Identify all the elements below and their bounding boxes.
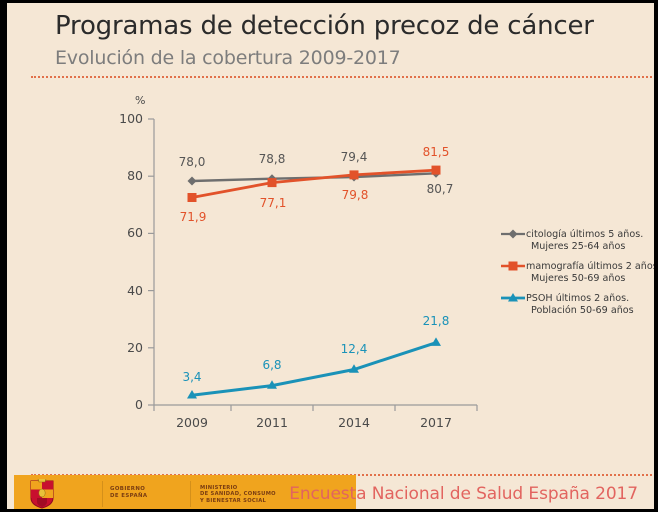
legend-label-citologia-line2: Mujeres 25-64 años <box>531 241 625 252</box>
logo-ministerio-text: MINISTERIO DE SANIDAD, CONSUMO Y BIENEST… <box>200 485 276 504</box>
logo-divider-1 <box>102 481 103 507</box>
logo-gobierno-text: GOBIERNO DE ESPAÑA <box>110 486 148 499</box>
data-label-psoh-2009: 3,4 <box>182 370 201 384</box>
y-tick-label-100: 100 <box>119 111 143 126</box>
x-tick-label-2009: 2009 <box>176 415 208 430</box>
data-label-mamografia-2017: 81,5 <box>423 145 450 159</box>
legend-item-psoh[interactable]: PSOH últimos 2 años. Población 50-69 año… <box>501 292 634 316</box>
footer-source-label: Encuesta Nacional de Salud España 2017 <box>289 484 638 504</box>
x-tick-label-2011: 2011 <box>256 415 288 430</box>
legend-label-psoh-line1: PSOH últimos 2 años. <box>526 292 629 304</box>
data-label-psoh-2011: 6,8 <box>262 358 281 372</box>
x-axis-ticks <box>154 405 477 411</box>
logo-ministerio-line2: DE SANIDAD, CONSUMO <box>200 491 276 497</box>
logo-ministerio-line3: Y BIENESTAR SOCIAL <box>200 498 266 504</box>
y-tick-label-20: 20 <box>127 340 143 355</box>
data-label-psoh-2017: 21,8 <box>423 314 450 328</box>
logo-gobierno-line1: GOBIERNO <box>110 486 145 492</box>
logo-gobierno-line2: DE ESPAÑA <box>110 493 148 499</box>
x-tick-label-2017: 2017 <box>420 415 452 430</box>
logo-divider-2 <box>190 481 191 507</box>
slide-canvas: Programas de detección precoz de cáncer … <box>0 0 658 512</box>
series-markers-psoh <box>187 337 441 398</box>
legend-label-citologia-line1: citología últimos 5 años. <box>526 228 643 240</box>
x-tick-label-2014: 2014 <box>338 415 370 430</box>
legend-label-psoh-line2: Población 50-69 años <box>531 304 634 316</box>
legend-marker-diamond-icon <box>509 230 518 239</box>
coat-of-arms-icon <box>28 479 56 509</box>
legend-label-mamografia-line2: Mujeres 50-69 años <box>531 273 625 284</box>
legend-item-citologia[interactable]: citología últimos 5 años. Mujeres 25-64 … <box>501 228 643 252</box>
legend-item-mamografia[interactable]: mamografía últimos 2 años. Mujeres 50-69… <box>501 260 658 284</box>
data-label-mamografia-2011: 77,1 <box>260 196 287 210</box>
data-label-mamografia-2009: 71,9 <box>180 210 207 224</box>
legend-marker-square-icon <box>509 262 518 271</box>
legend-label-mamografia-line1: mamografía últimos 2 años. <box>526 260 658 272</box>
y-axis-unit-label: % <box>135 94 145 107</box>
data-label-citologia-2011: 78,8 <box>259 152 286 166</box>
y-tick-label-40: 40 <box>127 283 143 298</box>
y-tick-label-60: 60 <box>127 225 143 240</box>
data-label-citologia-2014: 79,4 <box>341 150 368 164</box>
data-label-mamografia-2014: 79,8 <box>342 188 369 202</box>
data-label-citologia-2009: 78,0 <box>179 155 206 169</box>
series-line-psoh <box>192 343 436 396</box>
y-tick-label-80: 80 <box>127 168 143 183</box>
y-tick-label-0: 0 <box>135 397 143 412</box>
logo-ministerio-line1: MINISTERIO <box>200 485 238 491</box>
chart-legend: citología últimos 5 años. Mujeres 25-64 … <box>501 228 658 316</box>
data-label-psoh-2014: 12,4 <box>341 342 368 356</box>
line-chart: % 100 80 60 40 20 0 2009 2011 2014 2017 … <box>7 3 658 473</box>
y-axis-ticks <box>148 119 154 405</box>
data-label-citologia-2017: 80,7 <box>427 182 454 196</box>
